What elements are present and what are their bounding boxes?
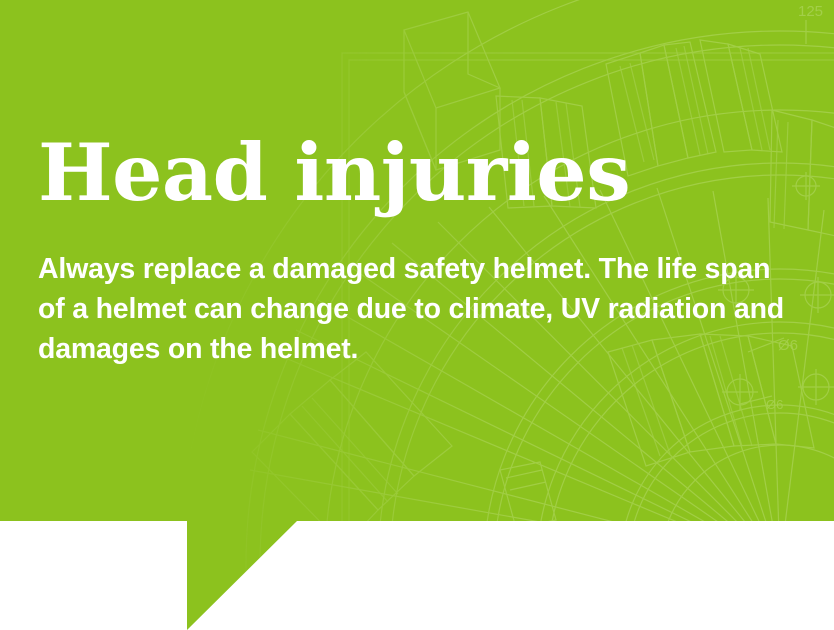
- slide-canvas: 125 Ø6 Ø6 Head injuries Always replace a…: [0, 0, 834, 630]
- body-paragraph: Always replace a damaged safety helmet. …: [38, 249, 798, 369]
- page-title: Head injuries: [38, 130, 630, 216]
- card-content: Head injuries Always replace a damaged s…: [0, 0, 834, 630]
